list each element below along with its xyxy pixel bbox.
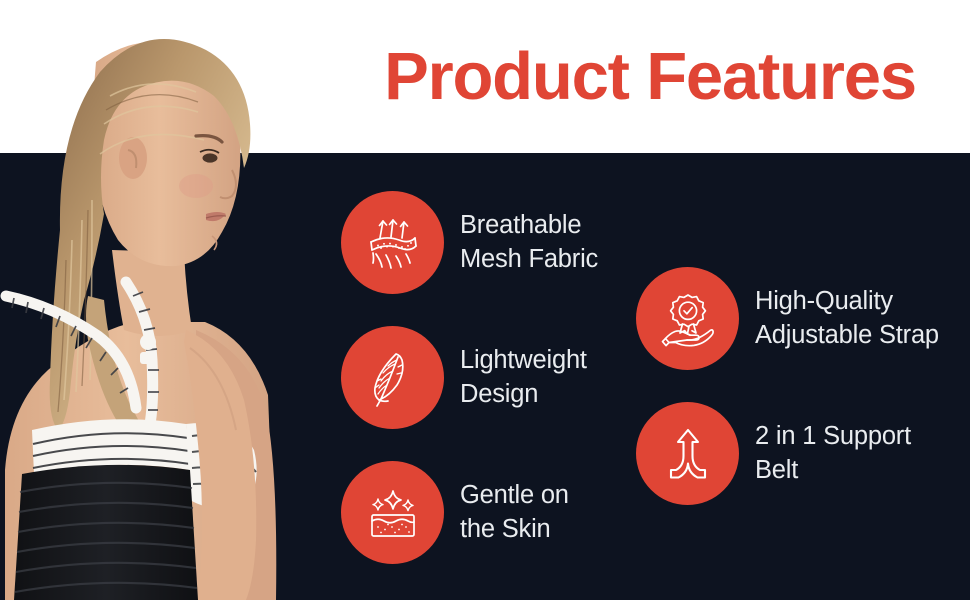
feature-label-line: Belt xyxy=(755,454,911,487)
hero-product-photo xyxy=(0,0,300,600)
page-title: Product Features xyxy=(330,0,970,153)
feature-label-line: High-Quality xyxy=(755,285,939,318)
product-features-banner: Product Features xyxy=(0,0,970,600)
skin-sparkle-icon xyxy=(361,481,425,545)
feature-label: Gentle on the Skin xyxy=(460,479,569,545)
feature-label: 2 in 1 Support Belt xyxy=(755,420,911,486)
feature-label-line: Adjustable Strap xyxy=(755,319,939,352)
feature-label-line: Design xyxy=(460,378,587,411)
feature-badge xyxy=(636,267,739,370)
feather-icon xyxy=(361,346,425,410)
feature-label-line: the Skin xyxy=(460,513,569,546)
feature-label: Breathable Mesh Fabric xyxy=(460,209,598,275)
feature-label-line: Breathable xyxy=(460,209,598,242)
feature-item-gentle-on-the-skin[interactable]: Gentle on the Skin xyxy=(341,461,569,564)
breathable-mesh-icon xyxy=(361,211,425,275)
feature-item-2-in-1-support-belt[interactable]: 2 in 1 Support Belt xyxy=(636,402,911,505)
feature-label: High-Quality Adjustable Strap xyxy=(755,285,939,351)
feature-label-line: 2 in 1 Support xyxy=(755,420,911,453)
feature-badge xyxy=(636,402,739,505)
feature-badge xyxy=(341,461,444,564)
hand-quality-badge-icon xyxy=(656,287,720,351)
feature-label-line: Mesh Fabric xyxy=(460,243,598,276)
feature-label-line: Gentle on xyxy=(460,479,569,512)
merging-arrows-icon xyxy=(656,422,720,486)
feature-label-line: Lightweight xyxy=(460,344,587,377)
feature-badge xyxy=(341,326,444,429)
feature-item-high-quality-adjustable-strap[interactable]: High-Quality Adjustable Strap xyxy=(636,267,939,370)
feature-item-breathable-mesh-fabric[interactable]: Breathable Mesh Fabric xyxy=(341,191,598,294)
feature-label: Lightweight Design xyxy=(460,344,587,410)
feature-badge xyxy=(341,191,444,294)
feature-item-lightweight-design[interactable]: Lightweight Design xyxy=(341,326,587,429)
